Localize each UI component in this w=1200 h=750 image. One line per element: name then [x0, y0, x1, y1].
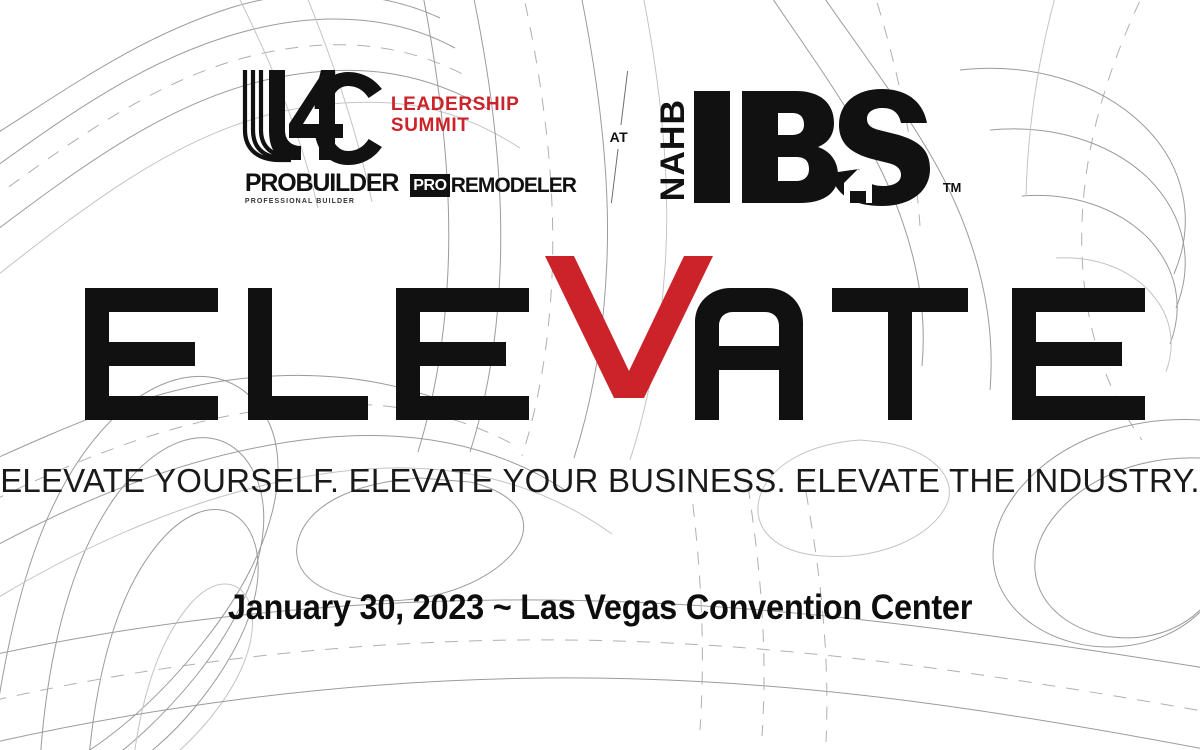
- probuilder-tagline: PROFESSIONAL BUILDER: [245, 197, 355, 206]
- logo-lockup: LEADERSHIP SUMMIT PROBUILDER PROFESSIONA…: [0, 62, 1200, 212]
- proremodeler-word: REMODELER: [451, 175, 576, 196]
- l4c-leadership-summit-logo: LEADERSHIP SUMMIT PROBUILDER PROFESSIONA…: [239, 67, 576, 207]
- elevate-wordmark: [0, 248, 1200, 433]
- wordmark-letter-V-accent: [545, 256, 713, 398]
- publication-logos-row: PROBUILDER PROFESSIONAL BUILDER PRO REMO…: [245, 171, 576, 206]
- wordmark-letter-E1: [85, 288, 218, 420]
- probuilder-logo: PROBUILDER PROFESSIONAL BUILDER: [245, 171, 398, 206]
- nahb-vertical-text: NAHB: [656, 99, 690, 201]
- summit-line-1: LEADERSHIP: [391, 94, 519, 115]
- proremodeler-pro-box: PRO: [410, 174, 449, 197]
- at-connector: AT: [590, 71, 648, 203]
- elevate-wordmark-svg: [0, 248, 1200, 433]
- proremodeler-logo: PRO REMODELER: [410, 174, 576, 197]
- probuilder-wordmark: PROBUILDER: [245, 171, 398, 196]
- wordmark-letter-E2: [396, 288, 529, 420]
- at-label: AT: [605, 125, 634, 149]
- tagline: ELEVATE YOURSELF. ELEVATE YOUR BUSINESS.…: [0, 462, 1200, 500]
- wordmark-letter-A: [695, 288, 803, 420]
- ibs-mark-icon: [692, 87, 942, 207]
- poster-content: LEADERSHIP SUMMIT PROBUILDER PROFESSIONA…: [0, 0, 1200, 750]
- wordmark-letter-T: [832, 288, 968, 420]
- l4c-mark-row: LEADERSHIP SUMMIT: [239, 68, 519, 168]
- nahb-ibs-logo: NAHB TM: [656, 67, 961, 207]
- wordmark-letter-L: [248, 288, 368, 420]
- date-and-venue: January 30, 2023 ~ Las Vegas Convention …: [42, 588, 1158, 628]
- leadership-summit-text: LEADERSHIP SUMMIT: [391, 68, 519, 136]
- summit-line-2: SUMMIT: [391, 115, 519, 136]
- event-promo-poster: LEADERSHIP SUMMIT PROBUILDER PROFESSIONA…: [0, 0, 1200, 750]
- l4c-monogram-icon: [239, 68, 387, 168]
- ibs-trademark-symbol: TM: [943, 180, 961, 195]
- wordmark-letter-E3: [1012, 288, 1145, 420]
